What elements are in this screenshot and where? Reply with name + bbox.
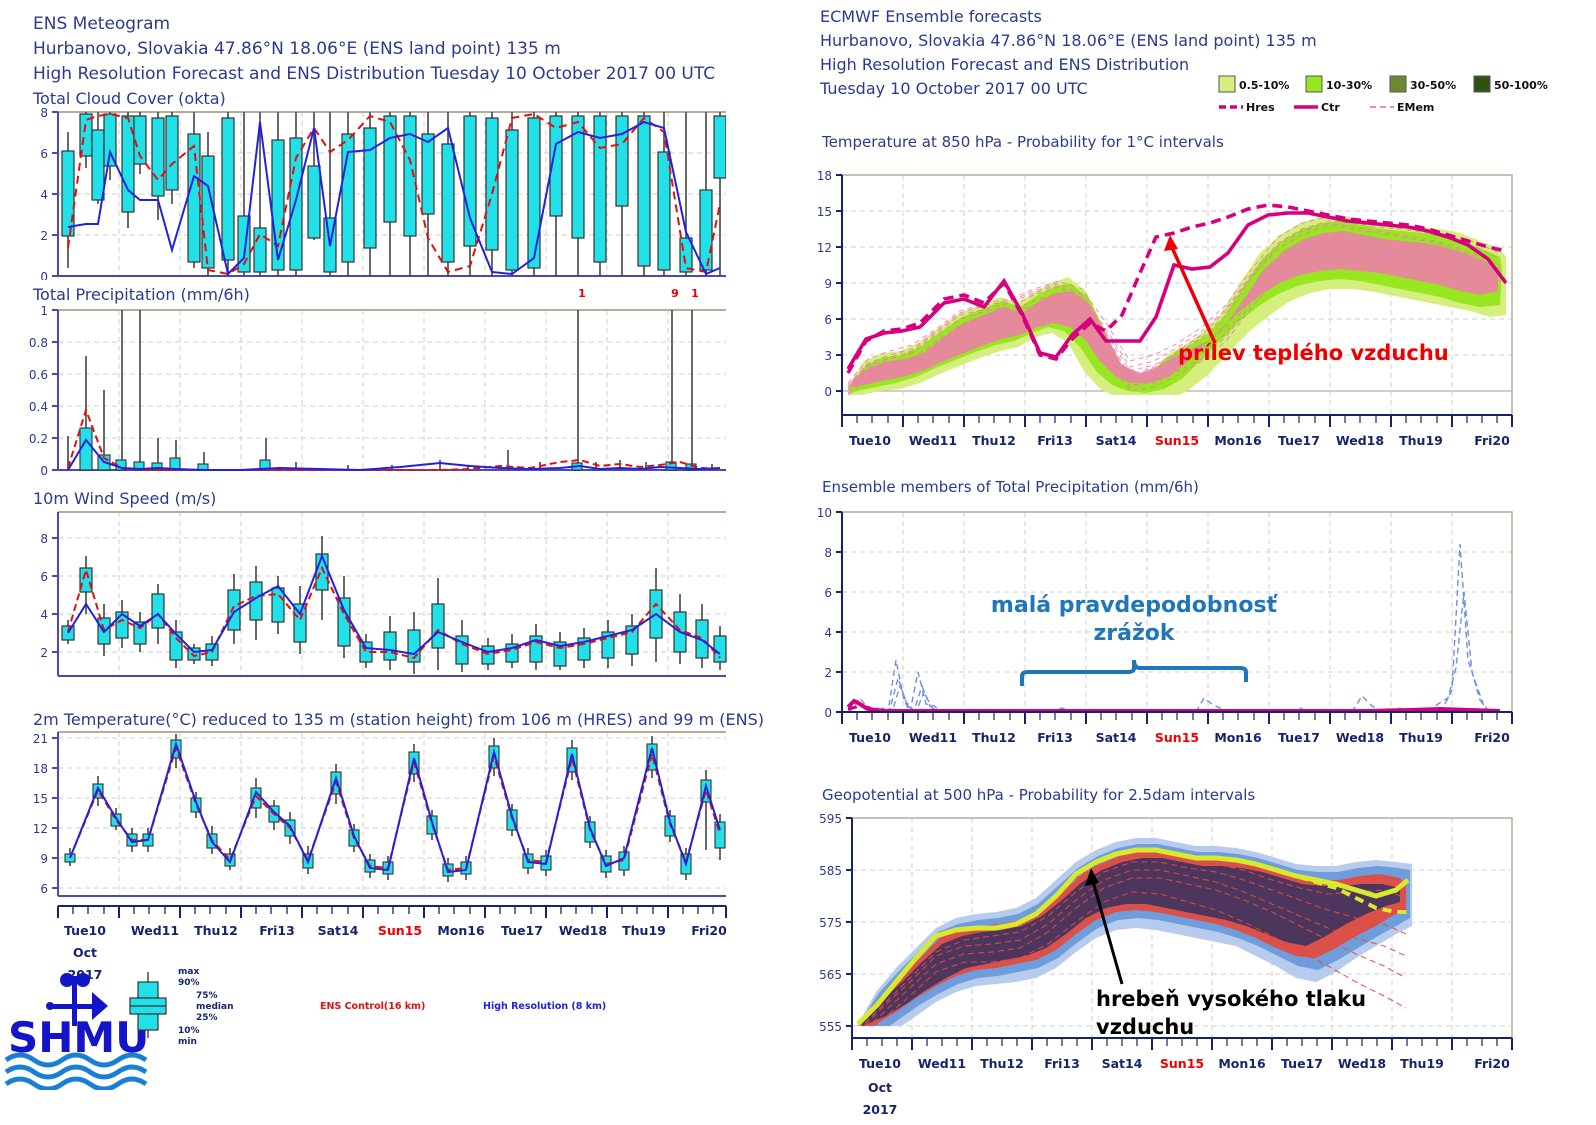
y-tick-cloud-8: 8 xyxy=(40,108,48,120)
day-label-fri20: Fri20 xyxy=(691,923,727,938)
swatch-label-0: 0.5-10% xyxy=(1239,79,1289,92)
y-tick-precip-6: 6 xyxy=(824,586,832,600)
precip-day-thu12: Thu12 xyxy=(972,730,1016,745)
swatch-50-100 xyxy=(1474,76,1490,92)
day-label-thu12: Thu12 xyxy=(194,923,238,938)
boxplot-legend-labels: max 90% 75% median 25% 10% min xyxy=(178,967,234,1047)
y-tick-wind-4: 4 xyxy=(40,608,48,622)
wind-boxplots xyxy=(62,536,726,674)
y-tick-precip-8: 8 xyxy=(824,546,832,560)
geo-day-tue10: Tue10 xyxy=(859,1056,901,1071)
panel-title-precip-ensemble: Ensemble members of Total Precipitation … xyxy=(822,478,1199,496)
y-tick-temp-21: 21 xyxy=(33,732,48,746)
overflow-label-3: 1 xyxy=(691,287,699,300)
overflow-label-1: 1 xyxy=(578,287,586,300)
y-tick-cloud-2: 2 xyxy=(40,229,48,243)
y-tick-precip-06: 0.6 xyxy=(29,368,48,382)
y-tick-temp-15: 15 xyxy=(33,792,48,806)
geo-day-thu19: Thu19 xyxy=(1400,1056,1444,1071)
y-tick-precip-02: 0.2 xyxy=(29,432,48,446)
swatch-label-1: 10-30% xyxy=(1326,79,1372,92)
y-tick-geo-575: 575 xyxy=(819,916,842,930)
annotation-precip-line2: zrážok xyxy=(1093,621,1175,646)
y-tick-wind-8: 8 xyxy=(40,532,48,546)
panel-title-cloud-cover: Total Cloud Cover (okta) xyxy=(33,89,226,108)
t850-day-wed11: Wed11 xyxy=(909,433,957,448)
y-tick-wind-2: 2 xyxy=(40,646,48,660)
t850-day-fri20: Fri20 xyxy=(1474,433,1510,448)
precip-day-mon16: Mon16 xyxy=(1214,730,1262,745)
x-axis-month: Oct xyxy=(73,945,97,960)
y-tick-cloud-4: 4 xyxy=(40,188,48,202)
legend-high-resolution: High Resolution (8 km) xyxy=(483,1001,606,1012)
annotation-geo-line1: hrebeň vysokého tlaku xyxy=(1096,987,1366,1011)
chart-total-precipitation: 1 9 1 1 0.8 xyxy=(0,283,760,483)
panel-title-temperature-2m: 2m Temperature(°C) reduced to 135 m (sta… xyxy=(33,710,764,729)
cloud-cover-boxplots xyxy=(62,112,726,276)
legend-median: median xyxy=(196,1002,234,1012)
geo-day-sun15: Sun15 xyxy=(1160,1056,1204,1071)
ens-control-line-precip xyxy=(68,410,720,470)
geo-day-sat14: Sat14 xyxy=(1102,1056,1143,1071)
y-tick-temp-12: 12 xyxy=(33,822,48,836)
shmu-logo: SHMU xyxy=(6,973,149,1089)
swatch-label-2: 30-50% xyxy=(1410,79,1456,92)
y-tick-precip-0: 0 xyxy=(40,464,48,478)
y-tick-geo-565: 565 xyxy=(819,968,842,982)
geo-x-axis-month: Oct xyxy=(868,1080,892,1095)
y-tick-precip-10: 10 xyxy=(817,506,832,520)
left-day-labels: Tue10 Wed11 Thu12 Fri13 Sat14 Sun15 Mon1… xyxy=(64,923,727,938)
legend-line-group: Hres Ctr EMem xyxy=(1219,101,1434,114)
geo-day-fri20: Fri20 xyxy=(1474,1056,1510,1071)
y-tick-precip-2: 2 xyxy=(824,666,832,680)
geo-x-axis-year: 2017 xyxy=(863,1102,898,1116)
y-tick-t850-6: 6 xyxy=(824,313,832,327)
legend-p90: 90% xyxy=(178,978,200,988)
y-tick-precip-4: 4 xyxy=(824,626,832,640)
y-tick-t850-18: 18 xyxy=(817,169,832,183)
legend-line-label-emem: EMem xyxy=(1397,101,1434,114)
t850-day-tue10: Tue10 xyxy=(849,433,891,448)
precip-overflow-labels: 1 9 1 xyxy=(578,287,699,300)
legend-p25: 25% xyxy=(196,1013,218,1023)
y-tick-t850-15: 15 xyxy=(817,205,832,219)
precip-day-thu19: Thu19 xyxy=(1399,730,1443,745)
y-tick-t850-9: 9 xyxy=(824,277,832,291)
swatch-10-30 xyxy=(1306,76,1322,92)
legend-max: max xyxy=(178,967,199,977)
t850-plume xyxy=(848,205,1506,403)
left-header: ENS Meteogram Hurbanovo, Slovakia 47.86°… xyxy=(33,12,715,87)
day-label-wed18: Wed18 xyxy=(559,923,607,938)
annotation-geo-line2: vzduchu xyxy=(1096,1015,1194,1039)
legend-swatch-group: 0.5-10% 10-30% 30-50% 50-100% xyxy=(1219,76,1548,92)
high-resolution-line-precip xyxy=(68,440,720,470)
left-header-line-1: ENS Meteogram xyxy=(33,12,715,37)
t850-day-sat14: Sat14 xyxy=(1096,433,1137,448)
probability-legend: 0.5-10% 10-30% 30-50% 50-100% Hres Ctr E… xyxy=(1215,73,1585,121)
t850-day-thu12: Thu12 xyxy=(972,433,1016,448)
y-tick-cloud-6: 6 xyxy=(40,147,48,161)
precip-day-wed11: Wed11 xyxy=(909,730,957,745)
left-header-line-3: High Resolution Forecast and ENS Distrib… xyxy=(33,62,715,87)
swatch-30-50 xyxy=(1390,76,1406,92)
annotation-precip-line1: malá pravdepodobnosť xyxy=(991,593,1279,618)
annotation-temp850-text: prílev teplého vzduchu xyxy=(1178,341,1449,365)
t850-day-tue17: Tue17 xyxy=(1278,433,1320,448)
y-tick-precip-04: 0.4 xyxy=(29,400,48,414)
precip-day-tue17: Tue17 xyxy=(1278,730,1320,745)
day-label-wed11: Wed11 xyxy=(131,923,179,938)
right-header-line-1: ECMWF Ensemble forecasts xyxy=(820,5,1317,29)
legend-min: min xyxy=(178,1037,197,1047)
precip-boxplots xyxy=(68,310,720,470)
precip-day-sat14: Sat14 xyxy=(1096,730,1137,745)
precip-day-sun15: Sun15 xyxy=(1155,730,1199,745)
t850-day-thu19: Thu19 xyxy=(1399,433,1443,448)
chart-wind-speed: 8 6 4 2 xyxy=(0,508,760,680)
precip-day-fri20: Fri20 xyxy=(1474,730,1510,745)
y-tick-wind-6: 6 xyxy=(40,570,48,584)
y-tick-precip-0: 0 xyxy=(824,706,832,720)
day-label-fri13: Fri13 xyxy=(259,923,295,938)
geo-day-mon16: Mon16 xyxy=(1218,1056,1266,1071)
day-label-tue10: Tue10 xyxy=(64,923,106,938)
left-meteogram-panel: ENS Meteogram Hurbanovo, Slovakia 47.86°… xyxy=(0,0,800,1125)
t850-day-sun15: Sun15 xyxy=(1155,433,1199,448)
y-tick-geo-555: 555 xyxy=(819,1020,842,1034)
legend-p10: 10% xyxy=(178,1026,200,1036)
y-tick-precip-08: 0.8 xyxy=(29,336,48,350)
day-label-sat14: Sat14 xyxy=(318,923,359,938)
legend-p75: 75% xyxy=(196,991,218,1001)
chart-precip-ensemble: 10 8 6 4 2 0 malá pravdepodobnosť zrážok xyxy=(800,500,1596,770)
chart-total-cloud-cover: 8 6 4 2 0 xyxy=(0,108,760,280)
t850-day-fri13: Fri13 xyxy=(1037,433,1073,448)
chart-temperature-850hpa: 18 15 12 9 6 3 0 xyxy=(800,165,1596,455)
geo-day-fri13: Fri13 xyxy=(1044,1056,1080,1071)
chart-geopotential-500hpa: 595 585 575 565 555 xyxy=(800,806,1596,1116)
legend-line-label-ctr: Ctr xyxy=(1321,101,1340,114)
y-tick-cloud-0: 0 xyxy=(40,270,48,280)
geo-x-axis: Tue10 Wed11 Thu12 Fri13 Sat14 Sun15 Mon1… xyxy=(852,1038,1512,1116)
geo-day-wed11: Wed11 xyxy=(918,1056,966,1071)
t850-day-mon16: Mon16 xyxy=(1214,433,1262,448)
y-tick-temp-18: 18 xyxy=(33,762,48,776)
t850-day-wed18: Wed18 xyxy=(1336,433,1384,448)
temperature-boxplots xyxy=(65,734,725,882)
geo-day-wed18: Wed18 xyxy=(1338,1056,1386,1071)
overflow-label-2: 9 xyxy=(671,287,679,300)
left-bottom-legend: SHMU max 90% 75% median 25% 10% min ENS xyxy=(0,960,770,1090)
y-tick-t850-0: 0 xyxy=(824,385,832,399)
right-ecmwf-panel: ECMWF Ensemble forecasts Hurbanovo, Slov… xyxy=(800,0,1596,1125)
y-tick-precip-1: 1 xyxy=(40,304,48,318)
day-label-thu19: Thu19 xyxy=(622,923,666,938)
chart-temperature-2m: 21 18 15 12 9 6 xyxy=(0,730,760,902)
t850-x-axis: Tue10 Wed11 Thu12 Fri13 Sat14 Sun15 Mon1… xyxy=(842,415,1512,448)
legend-line-label-hres: Hres xyxy=(1246,101,1275,114)
geo-day-tue17: Tue17 xyxy=(1281,1056,1323,1071)
panel-title-wind-speed: 10m Wind Speed (m/s) xyxy=(33,489,216,508)
day-label-sun15: Sun15 xyxy=(378,923,422,938)
precip-day-tue10: Tue10 xyxy=(849,730,891,745)
day-label-tue17: Tue17 xyxy=(501,923,543,938)
day-label-mon16: Mon16 xyxy=(437,923,485,938)
panel-title-geopotential: Geopotential at 500 hPa - Probability fo… xyxy=(822,786,1255,804)
right-header-line-2: Hurbanovo, Slovakia 47.86°N 18.06°E (ENS… xyxy=(820,29,1317,53)
y-tick-t850-3: 3 xyxy=(824,349,832,363)
precip-day-fri13: Fri13 xyxy=(1037,730,1073,745)
swatch-label-3: 50-100% xyxy=(1494,79,1548,92)
y-tick-t850-12: 12 xyxy=(817,241,832,255)
y-tick-geo-585: 585 xyxy=(819,864,842,878)
swatch-0-5-10 xyxy=(1219,76,1235,92)
panel-title-temp850: Temperature at 850 hPa - Probability for… xyxy=(822,133,1224,151)
y-tick-temp-9: 9 xyxy=(40,852,48,866)
left-header-line-2: Hurbanovo, Slovakia 47.86°N 18.06°E (ENS… xyxy=(33,37,715,62)
precip-ens-x-axis: Tue10 Wed11 Thu12 Fri13 Sat14 Sun15 Mon1… xyxy=(842,712,1512,745)
y-tick-geo-595: 595 xyxy=(819,812,842,826)
legend-ens-control: ENS Control(16 km) xyxy=(320,1001,425,1012)
geo-day-thu12: Thu12 xyxy=(980,1056,1024,1071)
precip-day-wed18: Wed18 xyxy=(1336,730,1384,745)
